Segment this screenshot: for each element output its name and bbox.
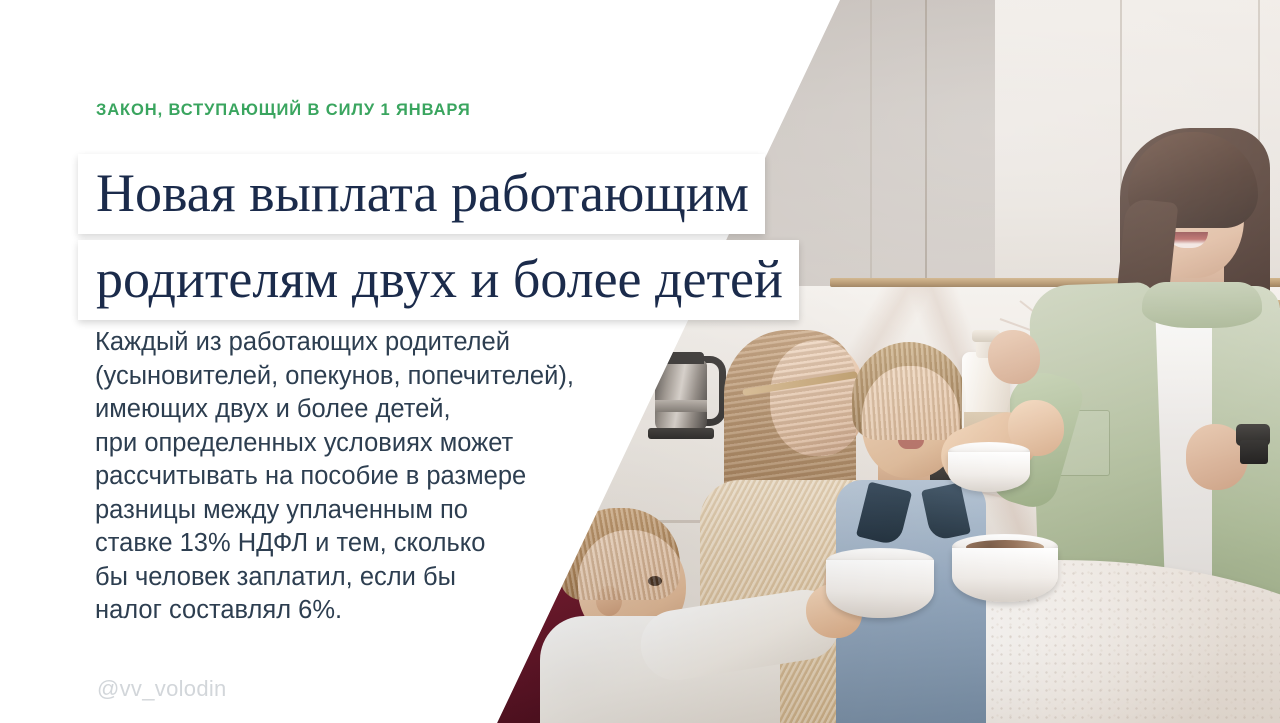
account-handle-watermark: @vv_volodin bbox=[97, 676, 227, 702]
cabinet-seam bbox=[925, 0, 927, 300]
kettle-band bbox=[655, 400, 707, 412]
woman-shirt-collar bbox=[1142, 282, 1262, 328]
body-line-2: (усыновителей, опекунов, попечителей), bbox=[95, 360, 574, 394]
page-title: Новая выплата работающим родителям двух … bbox=[78, 154, 799, 320]
eyebrow-label: ЗАКОН, ВСТУПАЮЩИЙ В СИЛУ 1 ЯНВАРЯ bbox=[96, 101, 471, 120]
body-line-6: разницы между уплаченным по bbox=[95, 494, 574, 528]
body-line-3: имеющих двух и более детей, bbox=[95, 393, 574, 427]
cereal-bowl bbox=[826, 560, 934, 618]
body-paragraph: Каждый из работающих родителей (усыновит… bbox=[95, 326, 574, 628]
cabinet-seam bbox=[870, 0, 872, 300]
body-line-1: Каждый из работающих родителей bbox=[95, 326, 574, 360]
body-line-5: рассчитывать на пособие в размере bbox=[95, 460, 574, 494]
body-line-7: ставке 13% НДФЛ и тем, сколько bbox=[95, 527, 574, 561]
body-line-9: налог составлял 6%. bbox=[95, 594, 574, 628]
woman-left-hand bbox=[988, 330, 1040, 384]
body-line-8: бы человек заплатил, если бы bbox=[95, 561, 574, 595]
cereal-bowl bbox=[952, 548, 1058, 602]
wristwatch-band bbox=[1240, 440, 1268, 464]
infographic-card: ЗАКОН, ВСТУПАЮЩИЙ В СИЛУ 1 ЯНВАРЯ Новая … bbox=[0, 0, 1280, 723]
kettle-base bbox=[648, 428, 714, 439]
cereal-bowl bbox=[948, 452, 1030, 492]
headline-line-2: родителям двух и более детей bbox=[78, 240, 799, 320]
body-line-4: при определенных условиях может bbox=[95, 427, 574, 461]
headline-line-1: Новая выплата работающим bbox=[78, 154, 765, 234]
